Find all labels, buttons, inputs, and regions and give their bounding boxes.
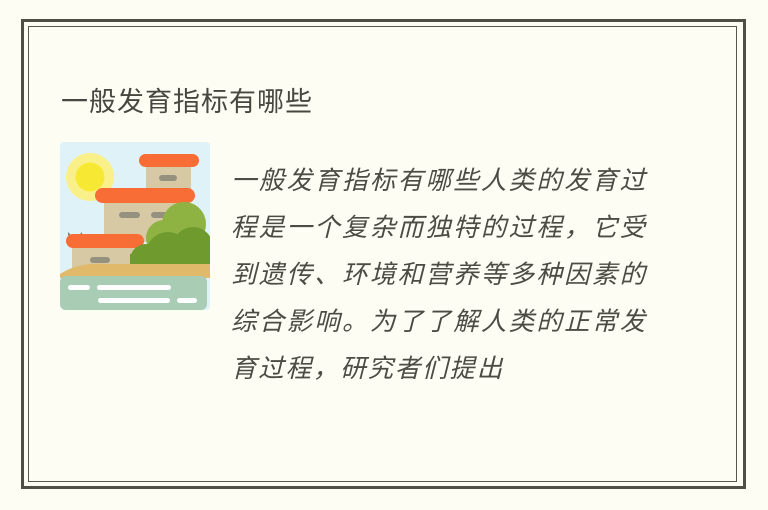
seaside-village-illustration bbox=[60, 142, 210, 310]
article-body-text: 一般发育指标有哪些人类的发育过程是一个复杂而独特的过程，它受到遗传、环境和营养等… bbox=[231, 158, 647, 393]
sand-strip bbox=[60, 264, 210, 278]
page-title: 一般发育指标有哪些 bbox=[61, 85, 313, 119]
building-top bbox=[139, 154, 199, 192]
document-page: 一般发育指标有哪些 bbox=[0, 0, 768, 510]
water-area bbox=[60, 276, 207, 310]
